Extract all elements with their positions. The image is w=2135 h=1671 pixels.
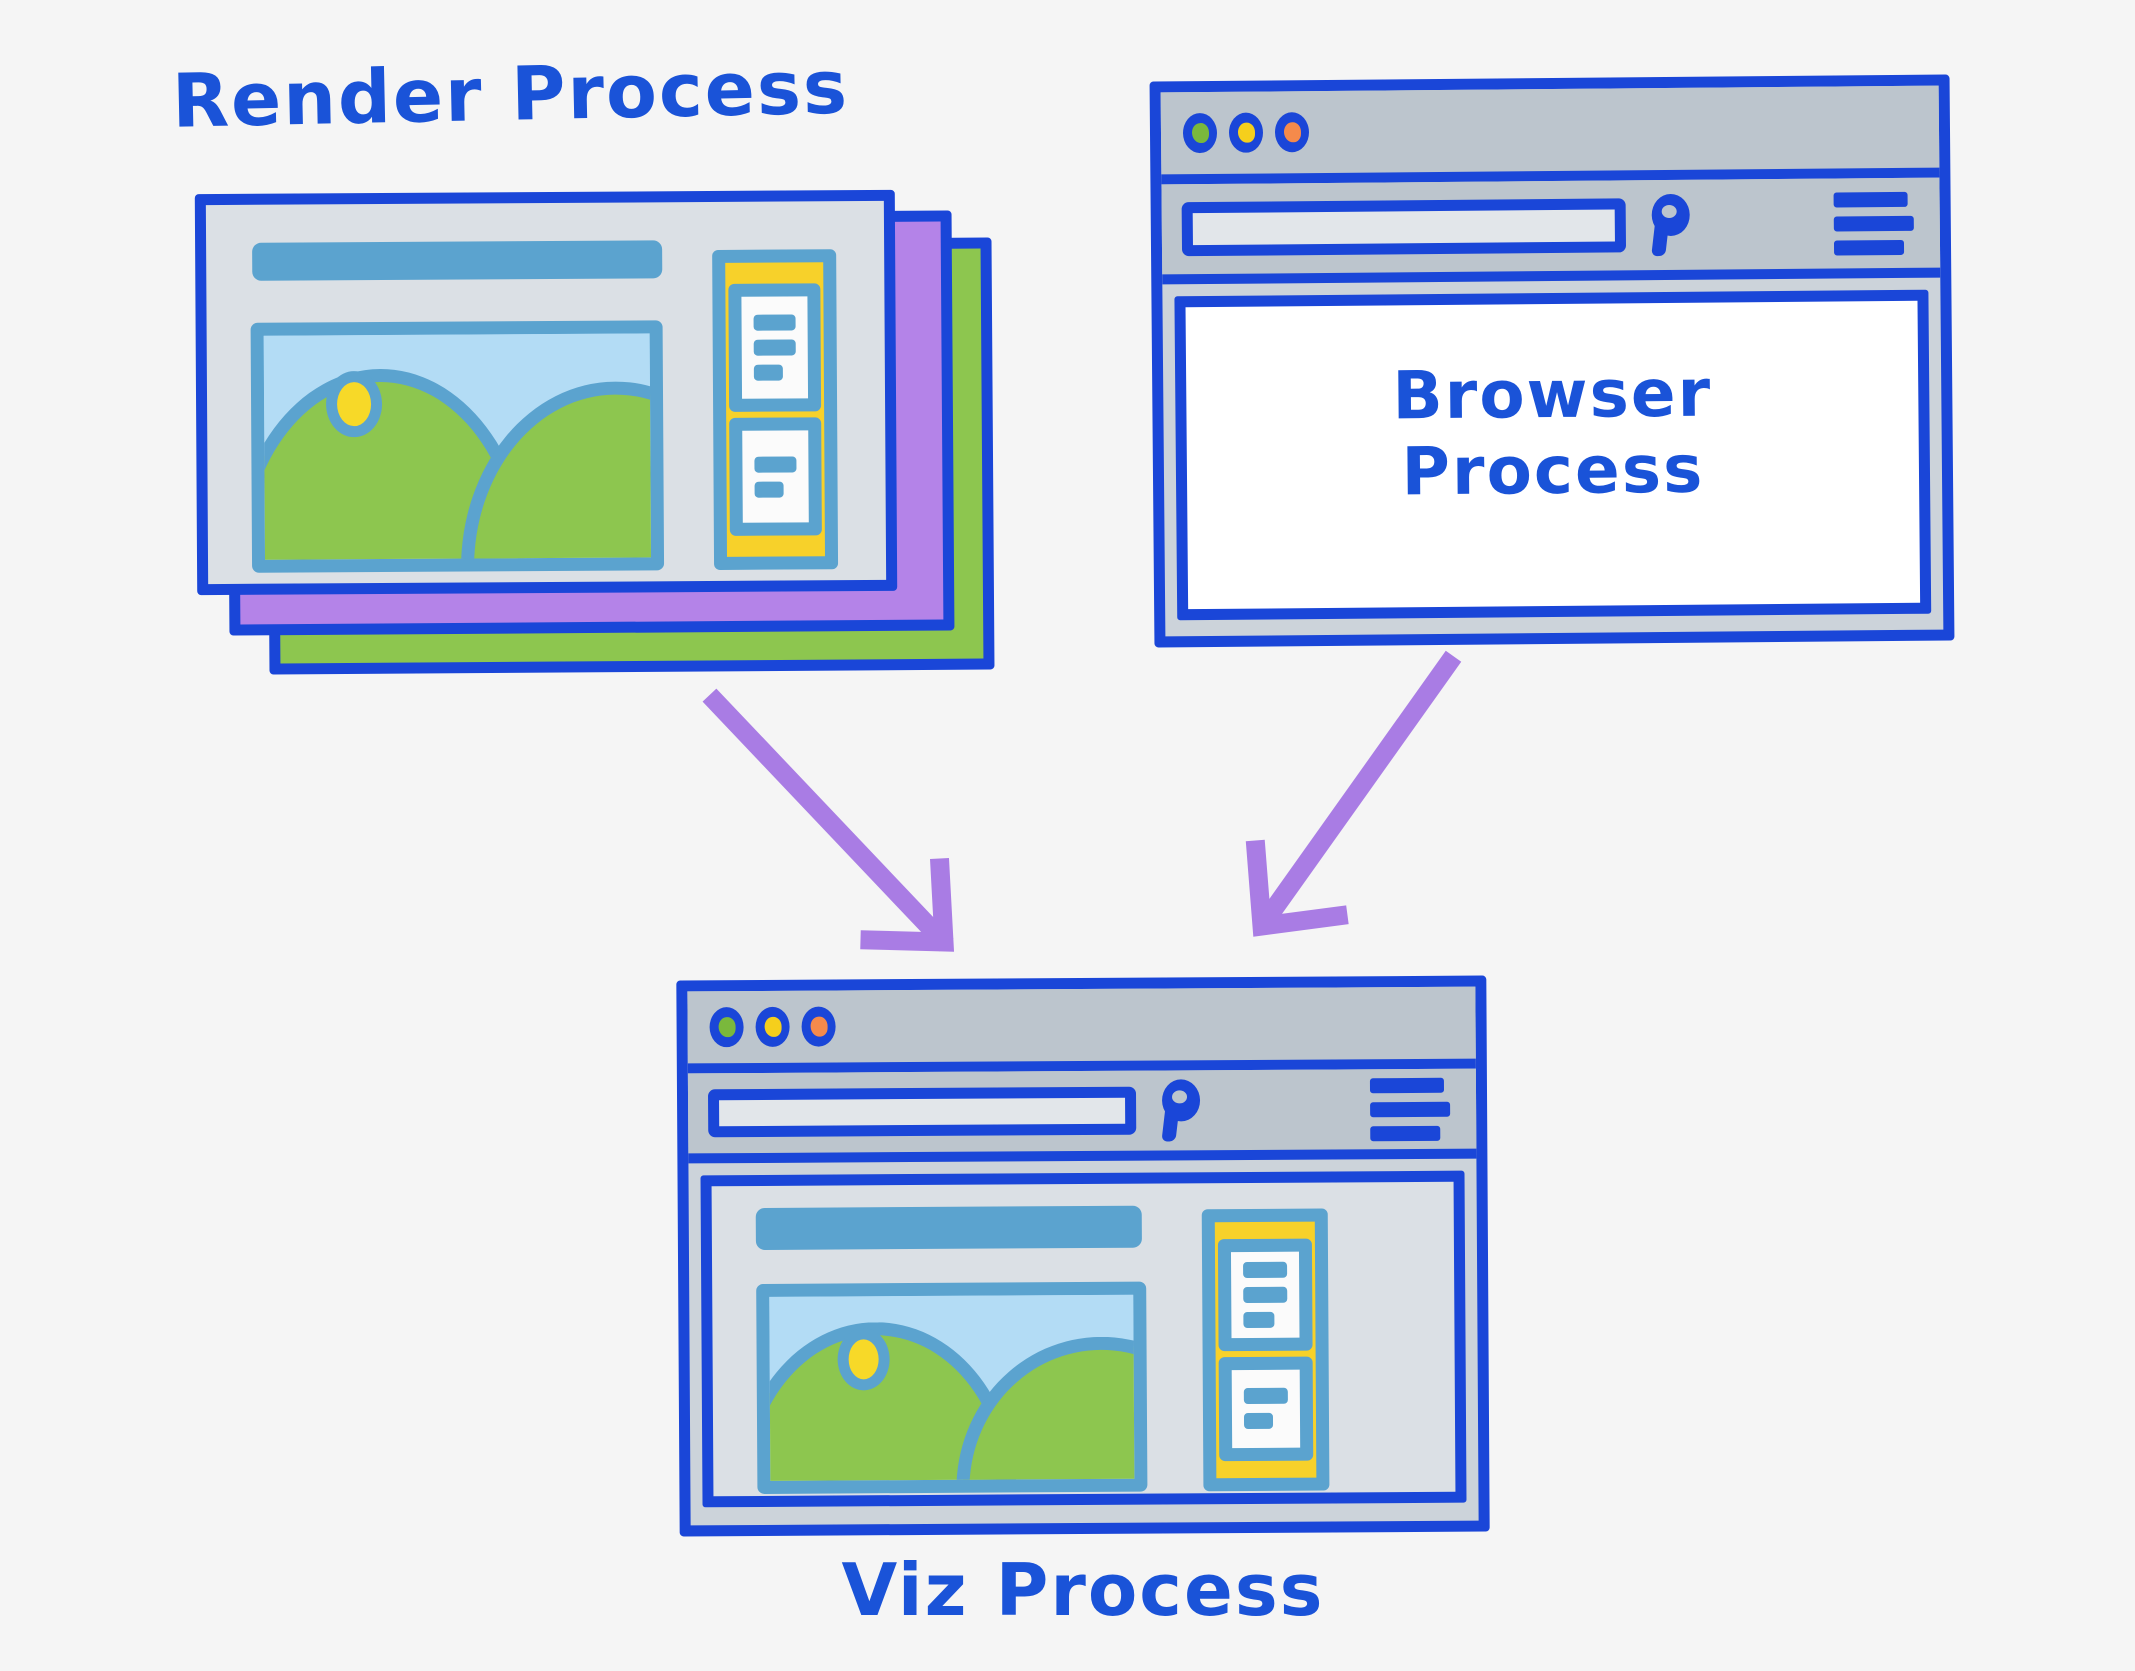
render-hero-image [251,320,665,573]
traffic-light-orange-icon[interactable] [801,1007,835,1047]
render-sidebar-note-2 [729,418,822,537]
note-line [754,364,783,380]
hero-sun-icon [326,371,382,437]
browser-window[interactable]: Browser Process [1150,75,1955,648]
browser-traffic-lights[interactable] [1161,112,1309,153]
browser-process-label-line2: Process [1187,429,1920,512]
arrow-browser-to-viz [1230,650,1530,960]
hamburger-menu-icon[interactable] [1370,1077,1450,1140]
arrow-render-to-viz [700,690,1000,980]
note-line [1243,1262,1287,1278]
note-line [754,314,796,330]
viz-hero-image [756,1282,1147,1494]
search-icon[interactable] [1158,1079,1204,1141]
browser-address-input[interactable] [1182,198,1626,256]
browser-process-label-line1: Browser [1186,353,1919,436]
traffic-light-green-icon[interactable] [709,1007,743,1047]
traffic-light-green-icon[interactable] [1183,113,1217,153]
hero-sun-icon [837,1328,889,1390]
browser-toolbar [1161,178,1940,285]
diagram-canvas: Render Process [0,0,2135,1671]
render-process-label: Render Process [171,45,813,144]
render-sidebar-note-1 [728,283,821,412]
search-icon[interactable] [1648,194,1695,256]
viz-window[interactable] [676,976,1489,1537]
note-line [1244,1413,1273,1429]
viz-sidebar-card [1202,1209,1330,1492]
render-window-front[interactable] [195,190,897,595]
traffic-light-yellow-icon[interactable] [1229,113,1263,153]
render-sidebar-card [712,249,838,570]
viz-page-viewport [701,1171,1467,1508]
viz-process-label: Viz Process [678,1548,1488,1632]
viz-address-input[interactable] [708,1087,1136,1138]
browser-content-viewport: Browser Process [1174,290,1931,621]
hamburger-menu-icon[interactable] [1834,191,1915,255]
render-page-banner [252,240,662,281]
arrow-shaft [716,702,940,938]
viz-titlebar [687,987,1475,1074]
traffic-light-orange-icon[interactable] [1275,112,1309,152]
note-line [754,339,796,355]
viz-toolbar [688,1069,1477,1164]
viz-sidebar-note-1 [1218,1239,1313,1352]
note-line [754,456,796,472]
render-page-viewport [214,209,878,576]
note-line [1243,1287,1287,1303]
traffic-light-yellow-icon[interactable] [755,1007,789,1047]
viz-page-banner [756,1206,1142,1250]
note-line [1244,1388,1288,1404]
viz-traffic-lights[interactable] [687,1007,835,1048]
note-line [1243,1312,1274,1328]
arrow-shaft [1266,664,1448,920]
viz-sidebar-note-2 [1219,1356,1314,1461]
browser-titlebar [1161,86,1940,185]
note-line [755,481,784,497]
